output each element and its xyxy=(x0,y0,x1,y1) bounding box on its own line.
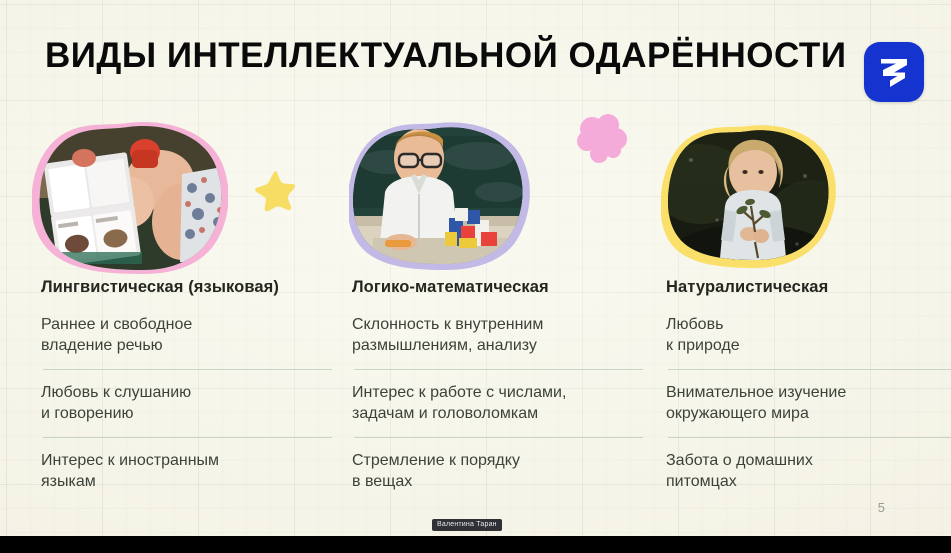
speaker-name-tag: Валентина Таран xyxy=(432,519,502,531)
list-item: Интерес к иностранным языкам xyxy=(41,450,341,492)
list-item: Забота о домашних питомцах xyxy=(666,450,951,492)
pink-blob-frame xyxy=(32,122,228,274)
presentation-slide: ВИДЫ ИНТЕЛЛЕКТУАЛЬНОЙ ОДАРЁННОСТИ xyxy=(0,0,951,553)
item-divider xyxy=(43,437,332,438)
column-heading: Логико-математическая xyxy=(352,278,652,298)
brand-logo[interactable] xyxy=(864,42,924,102)
category-column-naturalistic: Натуралистическая Любовь к природе Внима… xyxy=(666,278,951,492)
category-column-linguistic: Лингвистическая (языковая) Раннее и своб… xyxy=(41,278,341,492)
list-item: Внимательное изучение окружающего мира xyxy=(666,382,951,424)
bottom-letterbox-bar xyxy=(0,536,951,553)
media-card-logical xyxy=(349,122,531,270)
list-item: Любовь к слушанию и говорению xyxy=(41,382,341,424)
media-card-naturalistic xyxy=(661,124,839,268)
list-item: Раннее и свободное владение речью xyxy=(41,314,341,356)
page-title: ВИДЫ ИНТЕЛЛЕКТУАЛЬНОЙ ОДАРЁННОСТИ xyxy=(45,38,846,75)
lavender-blob-frame xyxy=(349,122,531,270)
page-number: 5 xyxy=(878,500,885,515)
item-divider xyxy=(668,369,951,370)
column-heading: Натуралистическая xyxy=(666,278,951,298)
child-with-picture-cards-photo xyxy=(32,122,228,274)
item-divider xyxy=(43,369,332,370)
star-icon xyxy=(252,168,298,219)
item-divider xyxy=(668,437,951,438)
column-heading: Лингвистическая (языковая) xyxy=(41,278,341,298)
flower-blob-icon xyxy=(572,112,630,169)
category-column-logical-mathematical: Логико-математическая Склонность к внутр… xyxy=(352,278,652,492)
yellow-blob-frame xyxy=(661,124,839,268)
item-divider xyxy=(354,437,643,438)
list-item: Стремление к порядку в вещах xyxy=(352,450,652,492)
media-card-linguistic xyxy=(32,122,228,274)
list-item: Интерес к работе с числами, задачам и го… xyxy=(352,382,652,424)
item-divider xyxy=(354,369,643,370)
list-item: Склонность к внутренним размышлениям, ан… xyxy=(352,314,652,356)
list-item: Любовь к природе xyxy=(666,314,951,356)
z-lightning-logo-icon xyxy=(864,42,924,102)
